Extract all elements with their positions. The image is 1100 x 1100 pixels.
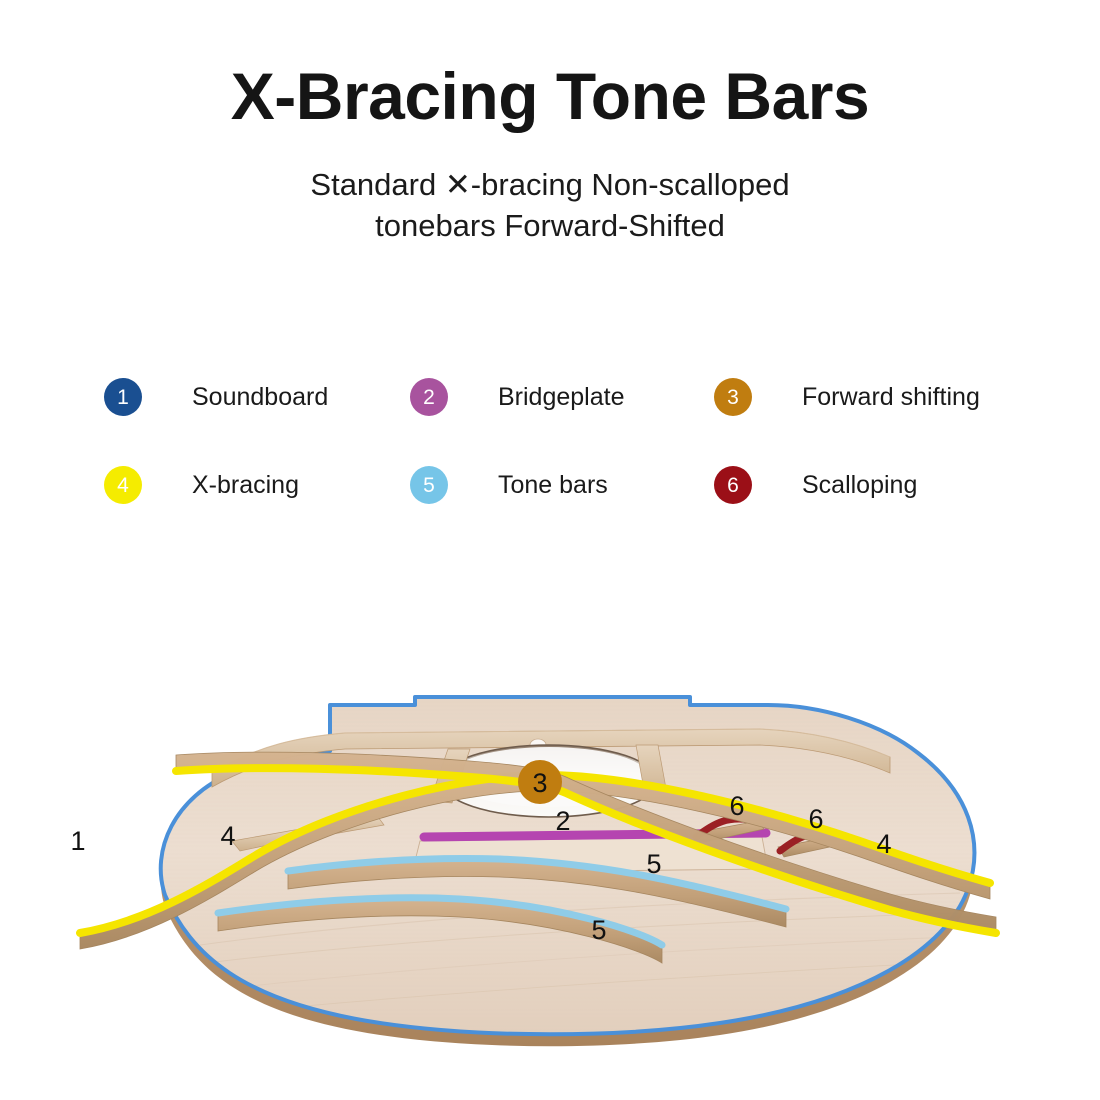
page-title: X-Bracing Tone Bars — [0, 62, 1100, 131]
callout-2: 2 — [555, 806, 570, 836]
page-subtitle: Standard ✕-bracing Non-scalloped tonebar… — [240, 165, 860, 247]
legend-item-x-bracing[interactable]: 4 X-bracing — [104, 466, 410, 504]
callout-6-second: 6 — [808, 804, 823, 834]
subtitle-line-1: Standard ✕-bracing Non-scalloped — [240, 165, 860, 206]
guitar-diagram-svg: 1 4 3 2 6 6 4 5 5 — [0, 645, 1100, 1075]
legend-item-forward-shifting[interactable]: 3 Forward shifting — [714, 378, 1004, 416]
callout-5-lower: 5 — [591, 915, 606, 945]
legend-badge-4: 4 — [104, 466, 142, 504]
legend-badge-5: 5 — [410, 466, 448, 504]
legend: 1 Soundboard 2 Bridgeplate 3 Forward shi… — [104, 378, 1004, 554]
legend-badge-3: 3 — [714, 378, 752, 416]
legend-item-scalloping[interactable]: 6 Scalloping — [714, 466, 1004, 504]
legend-item-tone-bars[interactable]: 5 Tone bars — [410, 466, 714, 504]
legend-label-3: Forward shifting — [802, 383, 980, 412]
legend-item-bridgeplate[interactable]: 2 Bridgeplate — [410, 378, 714, 416]
legend-badge-1: 1 — [104, 378, 142, 416]
legend-badge-6: 6 — [714, 466, 752, 504]
legend-label-6: Scalloping — [802, 471, 917, 500]
legend-item-soundboard[interactable]: 1 Soundboard — [104, 378, 410, 416]
legend-label-1: Soundboard — [192, 383, 328, 412]
guitar-bracing-figure: 1 4 3 2 6 6 4 5 5 — [0, 645, 1100, 1075]
legend-label-4: X-bracing — [192, 471, 299, 500]
callout-6-first: 6 — [729, 791, 744, 821]
legend-label-2: Bridgeplate — [498, 383, 624, 412]
page-root: X-Bracing Tone Bars Standard ✕-bracing N… — [0, 0, 1100, 1100]
callout-4-right: 4 — [876, 829, 891, 859]
subtitle-line-2: tonebars Forward-Shifted — [240, 206, 860, 247]
callout-5-upper: 5 — [646, 849, 661, 879]
legend-badge-2: 2 — [410, 378, 448, 416]
header: X-Bracing Tone Bars Standard ✕-bracing N… — [0, 0, 1100, 247]
callout-4-left: 4 — [220, 821, 235, 851]
callout-3: 3 — [532, 768, 547, 798]
callout-1: 1 — [70, 826, 85, 856]
legend-label-5: Tone bars — [498, 471, 608, 500]
